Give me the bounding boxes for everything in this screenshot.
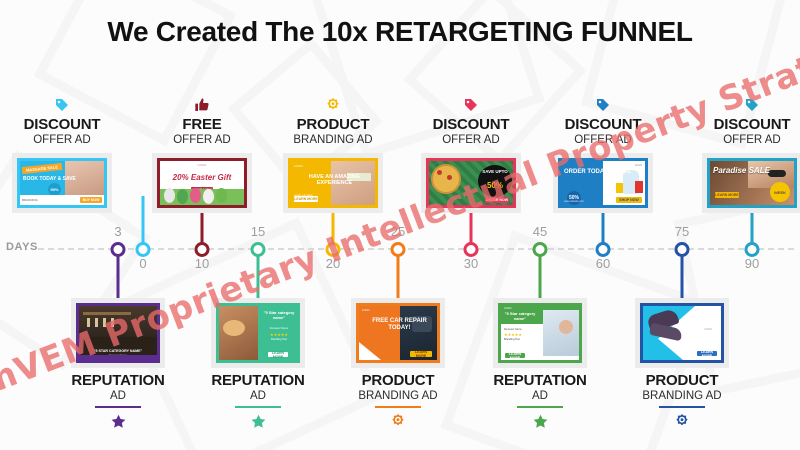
top-ad-thumb-4[interactable]: SAVE UPTO50%ORDER NOW xyxy=(426,158,516,208)
top-ad-thumb-5[interactable]: LOGOORDER TODAY & SAVE50%www.website.com… xyxy=(558,158,648,208)
top-ad-frame-3[interactable]: LOGOHAVE AN AMAZING EXPERIENCEAND MORELE… xyxy=(283,153,383,213)
top-ad-frame-4[interactable]: SAVE UPTO50%ORDER NOW xyxy=(421,153,521,213)
top-card-4[interactable]: DISCOUNTOFFER ADSAVE UPTO50%ORDER NOW xyxy=(421,95,521,213)
timeline-stem-day-0 xyxy=(142,196,145,248)
day-label-30: 30 xyxy=(464,256,478,271)
timeline-stem-day-25 xyxy=(397,250,400,302)
page-title: We Created The 10x RETARGETING FUNNEL xyxy=(0,16,800,48)
timeline-marker-day-20[interactable] xyxy=(326,242,341,257)
top-card-title-2: FREE xyxy=(152,117,252,133)
bottom-card-subtitle-3: BRANDING AD xyxy=(351,389,445,403)
top-card-5[interactable]: DISCOUNTOFFER ADLOGOORDER TODAY & SAVE50… xyxy=(553,95,653,213)
bottom-card-rule-1 xyxy=(95,406,141,408)
top-ad-thumb-3[interactable]: LOGOHAVE AN AMAZING EXPERIENCEAND MORELE… xyxy=(288,158,378,208)
timeline-marker-day-10[interactable] xyxy=(195,242,210,257)
bottom-card-2[interactable]: "5 Star category name"Reviewer Name★★★★★… xyxy=(211,298,305,433)
day-label-15: 15 xyxy=(251,224,265,239)
timeline-marker-day-60[interactable] xyxy=(596,242,611,257)
bottom-ad-frame-1[interactable]: "5 STAR CATEGORY NAME"Reviewer Name xyxy=(71,298,165,368)
tag-icon-wrap xyxy=(702,95,800,115)
bottom-card-subtitle-5: BRANDING AD xyxy=(635,389,729,403)
bottom-card-1[interactable]: "5 STAR CATEGORY NAME"Reviewer NameREPUT… xyxy=(71,298,165,433)
top-ad-frame-6[interactable]: Paradise SALELEARN MOREWEEK xyxy=(702,153,800,213)
target-icon xyxy=(325,97,341,113)
thumbs-up-icon xyxy=(194,97,210,113)
timeline-stem-day-15 xyxy=(257,250,260,302)
day-label-10: 10 xyxy=(195,256,209,271)
timeline-stem-day-45 xyxy=(539,250,542,302)
day-label-25: 25 xyxy=(391,224,405,239)
timeline-marker-day-25[interactable] xyxy=(391,242,406,257)
top-card-6[interactable]: DISCOUNTOFFER ADParadise SALELEARN MOREW… xyxy=(702,95,800,213)
timeline-marker-day-0[interactable] xyxy=(136,242,151,257)
tag-icon-wrap xyxy=(12,95,112,115)
bottom-ad-frame-4[interactable]: LOGO"5 Star category name"Reviewer Name★… xyxy=(493,298,587,368)
timeline-stem-day-3 xyxy=(117,250,120,302)
top-card-subtitle-6: OFFER AD xyxy=(702,133,800,147)
tag-icon xyxy=(54,97,70,113)
bottom-card-title-2: REPUTATION xyxy=(211,373,305,389)
day-label-45: 45 xyxy=(533,224,547,239)
top-card-subtitle-5: OFFER AD xyxy=(553,133,653,147)
top-card-subtitle-4: OFFER AD xyxy=(421,133,521,147)
day-label-0: 0 xyxy=(139,256,146,271)
day-label-75: 75 xyxy=(675,224,689,239)
top-card-subtitle-1: OFFER AD xyxy=(12,133,112,147)
target-icon xyxy=(390,413,406,429)
day-label-20: 20 xyxy=(326,256,340,271)
bottom-card-4[interactable]: LOGO"5 Star category name"Reviewer Name★… xyxy=(493,298,587,433)
star-icon xyxy=(532,413,549,430)
tag-icon xyxy=(595,97,611,113)
day-label-3: 3 xyxy=(114,224,121,239)
top-ad-frame-5[interactable]: LOGOORDER TODAY & SAVE50%www.website.com… xyxy=(553,153,653,213)
top-card-title-1: DISCOUNT xyxy=(12,117,112,133)
bottom-ad-thumb-1[interactable]: "5 STAR CATEGORY NAME"Reviewer Name xyxy=(76,303,160,363)
bottom-ad-thumb-4[interactable]: LOGO"5 Star category name"Reviewer Name★… xyxy=(498,303,582,363)
bottom-card-rule-2 xyxy=(235,406,281,408)
bottom-card-title-4: REPUTATION xyxy=(493,373,587,389)
tag-icon-wrap xyxy=(421,95,521,115)
bottom-ad-frame-5[interactable]: LOGOLEARN MORE xyxy=(635,298,729,368)
top-ad-thumb-6[interactable]: Paradise SALELEARN MOREWEEK xyxy=(707,158,797,208)
timeline-marker-day-30[interactable] xyxy=(464,242,479,257)
top-card-1[interactable]: DISCOUNTOFFER ADMASSAGE SALEBOOK TODAY &… xyxy=(12,95,112,213)
thumbs-up-icon-wrap xyxy=(152,95,252,115)
tag-icon xyxy=(744,97,760,113)
top-card-title-6: DISCOUNT xyxy=(702,117,800,133)
timeline-marker-day-15[interactable] xyxy=(251,242,266,257)
bottom-card-rule-5 xyxy=(659,406,705,408)
bottom-card-5[interactable]: LOGOLEARN MOREPRODUCTBRANDING AD xyxy=(635,298,729,433)
tag-icon xyxy=(463,97,479,113)
top-ad-frame-1[interactable]: MASSAGE SALEBOOK TODAY & SAVE50%BUY NOWB… xyxy=(12,153,112,213)
target-icon xyxy=(674,413,690,429)
bottom-ad-thumb-5[interactable]: LOGOLEARN MORE xyxy=(640,303,724,363)
top-ad-thumb-1[interactable]: MASSAGE SALEBOOK TODAY & SAVE50%BUY NOWB… xyxy=(17,158,107,208)
bottom-ad-thumb-3[interactable]: LOGOFREE CAR REPAIR TODAY!LEARN MORE xyxy=(356,303,440,363)
top-card-title-4: DISCOUNT xyxy=(421,117,521,133)
bottom-card-rule-4 xyxy=(517,406,563,408)
bottom-ad-thumb-2[interactable]: "5 Star category name"Reviewer Name★★★★★… xyxy=(216,303,300,363)
bottom-card-title-3: PRODUCT xyxy=(351,373,445,389)
target-icon-wrap xyxy=(351,411,445,431)
star-icon xyxy=(250,413,267,430)
bottom-card-subtitle-1: AD xyxy=(71,389,165,403)
bottom-ad-frame-2[interactable]: "5 Star category name"Reviewer Name★★★★★… xyxy=(211,298,305,368)
bottom-card-title-1: REPUTATION xyxy=(71,373,165,389)
bottom-card-subtitle-4: AD xyxy=(493,389,587,403)
timeline-stem-day-75 xyxy=(681,250,684,302)
tag-icon-wrap xyxy=(553,95,653,115)
bottom-ad-frame-3[interactable]: LOGOFREE CAR REPAIR TODAY!LEARN MORE xyxy=(351,298,445,368)
timeline-marker-day-90[interactable] xyxy=(745,242,760,257)
top-ad-thumb-2[interactable]: LOGO20% Easter GiftSHOP NOW xyxy=(157,158,247,208)
bottom-card-subtitle-2: AD xyxy=(211,389,305,403)
top-card-3[interactable]: PRODUCTBRANDING ADLOGOHAVE AN AMAZING EX… xyxy=(283,95,383,213)
target-icon-wrap xyxy=(635,411,729,431)
day-label-60: 60 xyxy=(596,256,610,271)
infographic-canvas: We Created The 10x RETARGETING FUNNEL DA… xyxy=(0,0,800,450)
bottom-card-3[interactable]: LOGOFREE CAR REPAIR TODAY!LEARN MOREPROD… xyxy=(351,298,445,433)
bottom-card-title-5: PRODUCT xyxy=(635,373,729,389)
star-icon-wrap xyxy=(211,411,305,431)
top-card-subtitle-2: OFFER AD xyxy=(152,133,252,147)
star-icon xyxy=(110,413,127,430)
top-card-title-3: PRODUCT xyxy=(283,117,383,133)
timeline-marker-day-75[interactable] xyxy=(675,242,690,257)
day-label-90: 90 xyxy=(745,256,759,271)
timeline-marker-day-45[interactable] xyxy=(533,242,548,257)
axis-label-days: DAYS xyxy=(6,241,38,253)
star-icon-wrap xyxy=(493,411,587,431)
top-card-2[interactable]: FREEOFFER ADLOGO20% Easter GiftSHOP NOW xyxy=(152,95,252,213)
top-card-title-5: DISCOUNT xyxy=(553,117,653,133)
bottom-card-rule-3 xyxy=(375,406,421,408)
timeline-marker-day-3[interactable] xyxy=(111,242,126,257)
top-ad-frame-2[interactable]: LOGO20% Easter GiftSHOP NOW xyxy=(152,153,252,213)
target-icon-wrap xyxy=(283,95,383,115)
top-card-subtitle-3: BRANDING AD xyxy=(283,133,383,147)
star-icon-wrap xyxy=(71,411,165,431)
